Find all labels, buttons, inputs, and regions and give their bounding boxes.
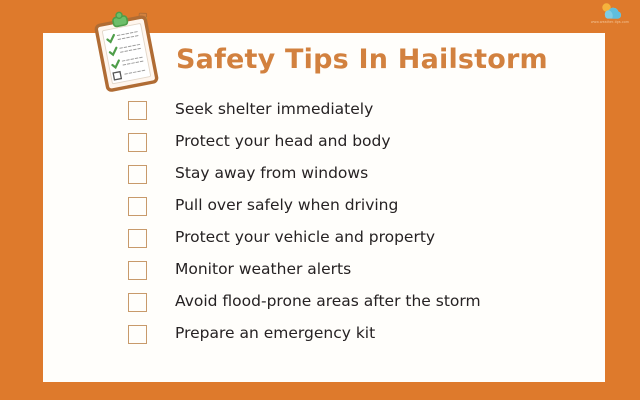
- checkbox[interactable]: [128, 229, 147, 248]
- list-item[interactable]: Seek shelter immediately: [128, 94, 598, 126]
- checkbox[interactable]: [128, 165, 147, 184]
- list-item-label: Monitor weather alerts: [175, 262, 351, 278]
- list-item-label: Prepare an emergency kit: [175, 326, 375, 342]
- list-item[interactable]: Monitor weather alerts: [128, 254, 598, 286]
- clipboard-with-pencil-icon: [88, 6, 172, 98]
- list-item-label: Pull over safely when driving: [175, 198, 398, 214]
- list-item-label: Avoid flood-prone areas after the storm: [175, 294, 481, 310]
- page-title: Safety Tips In Hailstorm: [176, 44, 596, 75]
- brand-caption: www.weather-tips.com: [586, 20, 634, 24]
- checkbox[interactable]: [128, 197, 147, 216]
- list-item[interactable]: Stay away from windows: [128, 158, 598, 190]
- checklist: Seek shelter immediately Protect your he…: [128, 94, 598, 350]
- brand-logo[interactable]: www.weather-tips.com: [586, 2, 634, 30]
- checkbox[interactable]: [128, 325, 147, 344]
- checkbox[interactable]: [128, 101, 147, 120]
- list-item-label: Protect your vehicle and property: [175, 230, 435, 246]
- list-item-label: Protect your head and body: [175, 134, 391, 150]
- list-item[interactable]: Prepare an emergency kit: [128, 318, 598, 350]
- sun-cloud-icon: [598, 2, 624, 20]
- list-item[interactable]: Protect your head and body: [128, 126, 598, 158]
- list-item[interactable]: Pull over safely when driving: [128, 190, 598, 222]
- checkbox[interactable]: [128, 293, 147, 312]
- checkbox[interactable]: [128, 261, 147, 280]
- list-item[interactable]: Avoid flood-prone areas after the storm: [128, 286, 598, 318]
- list-item-label: Stay away from windows: [175, 166, 368, 182]
- list-item-label: Seek shelter immediately: [175, 102, 373, 118]
- list-item[interactable]: Protect your vehicle and property: [128, 222, 598, 254]
- poster-canvas: www.weather-tips.com: [0, 0, 640, 400]
- checkbox[interactable]: [128, 133, 147, 152]
